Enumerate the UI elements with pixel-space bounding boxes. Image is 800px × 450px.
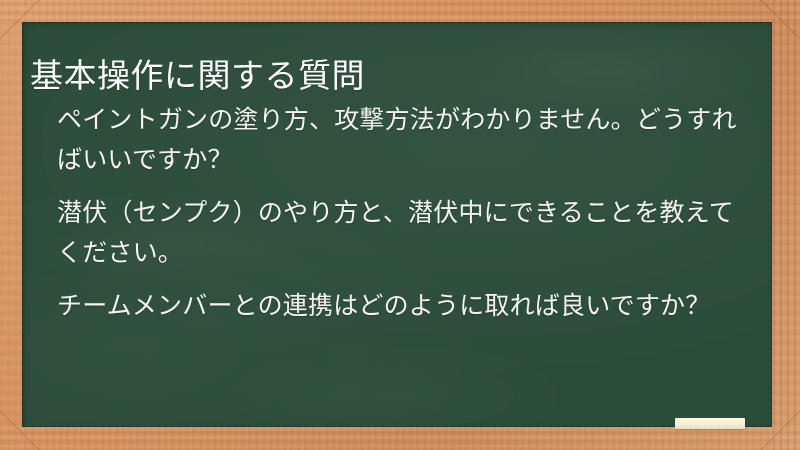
chalkboard-slide: 基本操作に関する質問 ペイントガンの塗り方、攻撃方法がわかりません。どうすればい… — [0, 0, 800, 450]
chalkboard-surface: 基本操作に関する質問 ペイントガンの塗り方、攻撃方法がわかりません。どうすればい… — [22, 22, 772, 427]
frame-top-grain — [0, 0, 800, 22]
frame-left-grain — [0, 0, 22, 450]
question-item: ペイントガンの塗り方、攻撃方法がわかりません。どうすればいいですか？ — [57, 100, 757, 180]
question-item: チームメンバーとの連携はどのように取れば良いですか？ — [57, 286, 757, 326]
chalk-stick-icon — [675, 418, 745, 429]
question-item: 潜伏（センプク）のやり方と、潜伏中にできることを教えてください。 — [57, 193, 757, 273]
frame-bottom-grain — [0, 427, 800, 450]
frame-right-grain — [772, 0, 800, 450]
chalkboard-content: 基本操作に関する質問 ペイントガンの塗り方、攻撃方法がわかりません。どうすればい… — [22, 22, 772, 427]
question-list: ペイントガンの塗り方、攻撃方法がわかりません。どうすればいいですか？ 潜伏（セン… — [57, 100, 757, 326]
slide-title: 基本操作に関する質問 — [30, 54, 730, 98]
